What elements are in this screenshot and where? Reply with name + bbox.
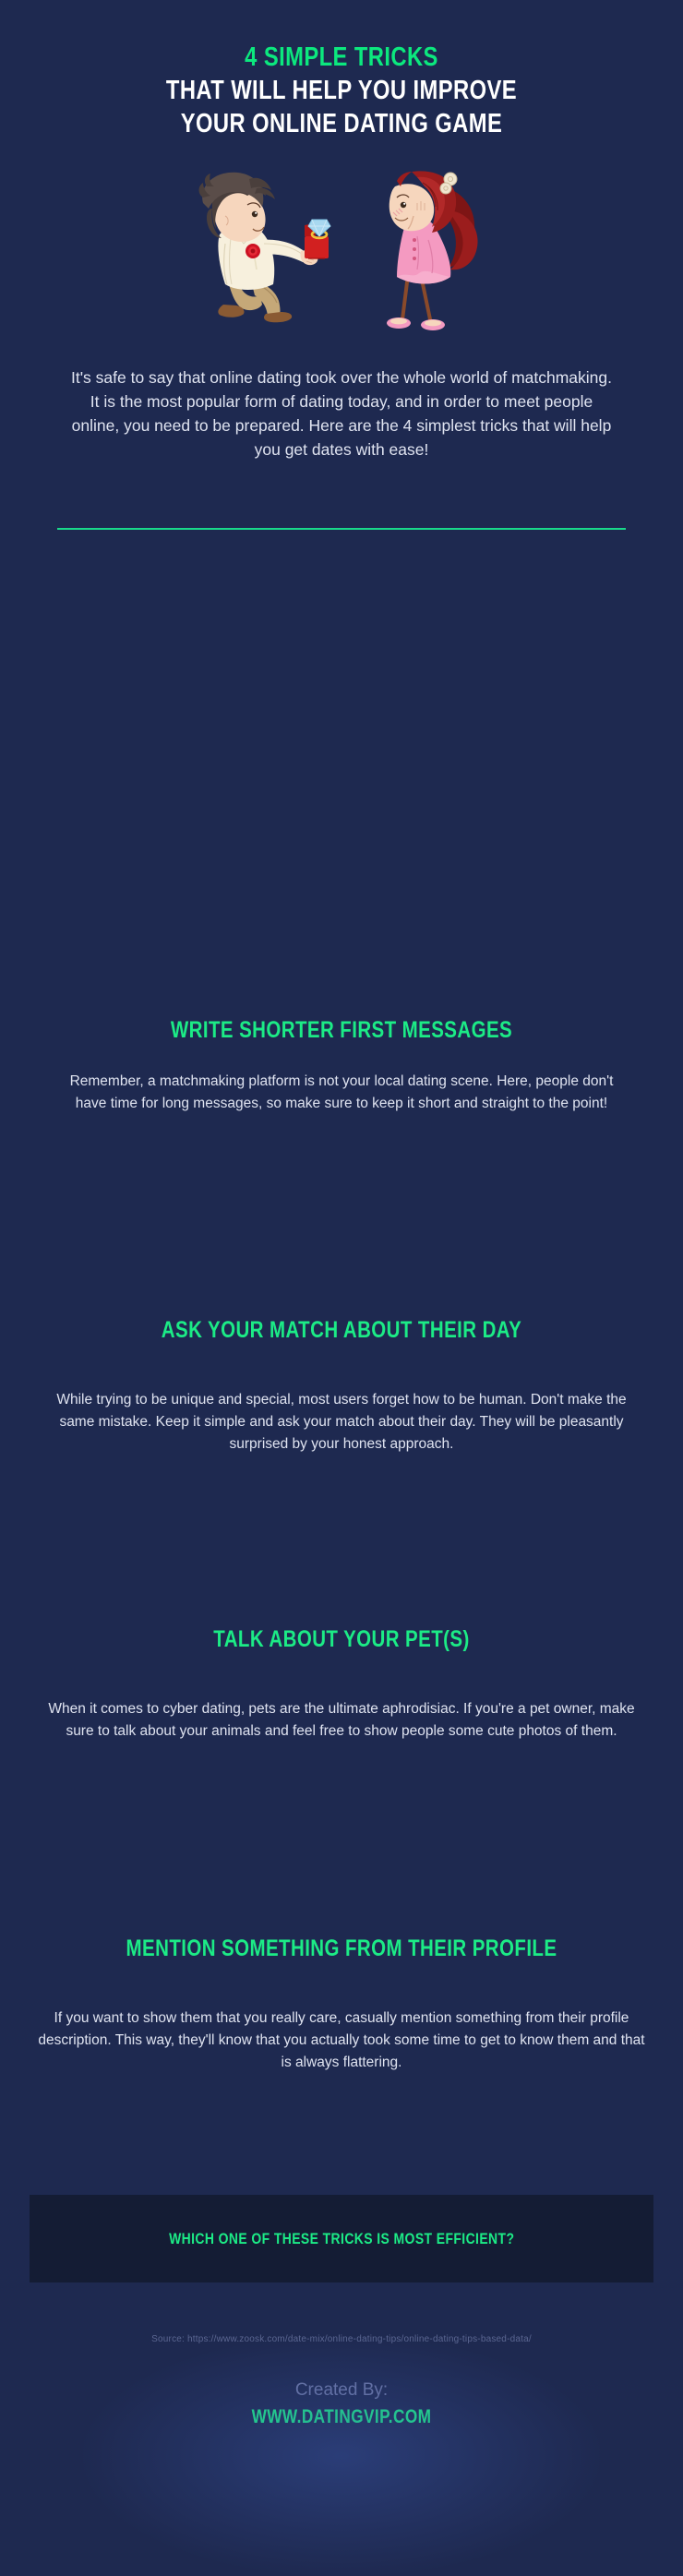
tip-section-1: WRITE SHORTER FIRST MESSAGES Remember, a… xyxy=(0,1015,683,1115)
title-line-3: YOUR ONLINE DATING GAME xyxy=(62,107,622,140)
tip-section-2: ASK YOUR MATCH ABOUT THEIR DAY While try… xyxy=(0,1315,683,1456)
tip-body-1: Remember, a matchmaking platform is not … xyxy=(55,1071,628,1115)
intro-paragraph: It's safe to say that online dating took… xyxy=(65,365,618,461)
section-divider xyxy=(57,528,626,530)
tip-body-3: When it comes to cyber dating, pets are … xyxy=(46,1698,637,1743)
tip-section-3: TALK ABOUT YOUR PET(S) When it comes to … xyxy=(0,1624,683,1743)
tip-body-4: If you want to show them that you really… xyxy=(37,2007,646,2074)
title-line-2: THAT WILL HELP YOU IMPROVE xyxy=(62,74,622,107)
infographic-header: 4 SIMPLE TRICKS THAT WILL HELP YOU IMPRO… xyxy=(0,41,683,140)
tip-title-1: WRITE SHORTER FIRST MESSAGES xyxy=(62,1015,622,1045)
tip-section-4: MENTION SOMETHING FROM THEIR PROFILE If … xyxy=(0,1934,683,2074)
brand-url[interactable]: WWW.DATINGVIP.COM xyxy=(62,2405,622,2429)
hero-illustration xyxy=(0,155,683,340)
tip-title-3: TALK ABOUT YOUR PET(S) xyxy=(62,1624,622,1654)
bottom-glow-decoration xyxy=(83,2336,600,2576)
created-by-label: Created By: xyxy=(0,2379,683,2402)
source-attribution: Source: https://www.zoosk.com/date-mix/o… xyxy=(0,2333,683,2346)
infographic-page: 4 SIMPLE TRICKS THAT WILL HELP YOU IMPRO… xyxy=(0,0,683,2465)
tip-title-2: ASK YOUR MATCH ABOUT THEIR DAY xyxy=(62,1315,622,1345)
cta-question-text: WHICH ONE OF THESE TRICKS IS MOST EFFICI… xyxy=(169,2229,514,2249)
proposal-illustration-svg xyxy=(175,155,508,340)
tip-title-4: MENTION SOMETHING FROM THEIR PROFILE xyxy=(62,1934,622,1963)
tip-body-2: While trying to be unique and special, m… xyxy=(55,1389,628,1456)
title-line-1: 4 SIMPLE TRICKS xyxy=(62,41,622,74)
cta-question-box[interactable]: WHICH ONE OF THESE TRICKS IS MOST EFFICI… xyxy=(30,2195,653,2282)
